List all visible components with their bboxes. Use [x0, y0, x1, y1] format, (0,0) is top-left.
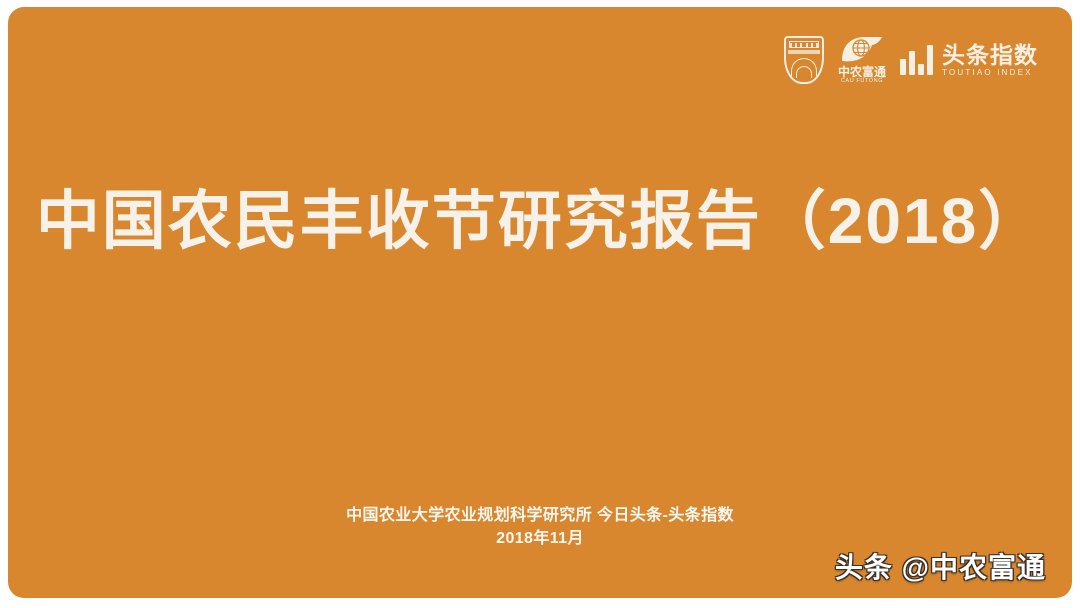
- shield-nameplate: [788, 50, 820, 54]
- bar-chart-icon: [900, 45, 933, 75]
- globe-leaf-mark-icon: [839, 35, 885, 65]
- cau-futong-label-cn: 中农富通: [838, 66, 886, 78]
- toutiao-index-text: 头条指数 TOUTIAO INDEX: [942, 44, 1038, 77]
- university-shield-emblem-icon: [784, 36, 824, 84]
- cau-futong-label-en: CAU FUTONG: [841, 79, 883, 84]
- cau-futong-logo: 中农富通 CAU FUTONG: [838, 35, 886, 85]
- slide-canvas: 中农富通 CAU FUTONG 头条指数 TOUTIAO INDEX 中国农民丰…: [0, 0, 1080, 608]
- shield-top-dots: [790, 42, 818, 47]
- title-slide-panel: 中农富通 CAU FUTONG 头条指数 TOUTIAO INDEX 中国农民丰…: [8, 7, 1072, 598]
- toutiao-index-logo: 头条指数 TOUTIAO INDEX: [900, 44, 1038, 77]
- toutiao-index-label-en: TOUTIAO INDEX: [942, 69, 1038, 77]
- footer-organizations: 中国农业大学农业规划科学研究所 今日头条-头条指数: [8, 504, 1072, 527]
- watermark-label: 头条 @中农富通: [835, 546, 1046, 586]
- shield-arch-inner: [796, 66, 812, 78]
- toutiao-index-label-cn: 头条指数: [942, 44, 1038, 67]
- page-title: 中国农民丰收节研究报告（2018）: [8, 185, 1072, 259]
- slide-footer: 中国农业大学农业规划科学研究所 今日头条-头条指数 2018年11月: [8, 504, 1072, 550]
- logo-strip: 中农富通 CAU FUTONG 头条指数 TOUTIAO INDEX: [784, 31, 1038, 89]
